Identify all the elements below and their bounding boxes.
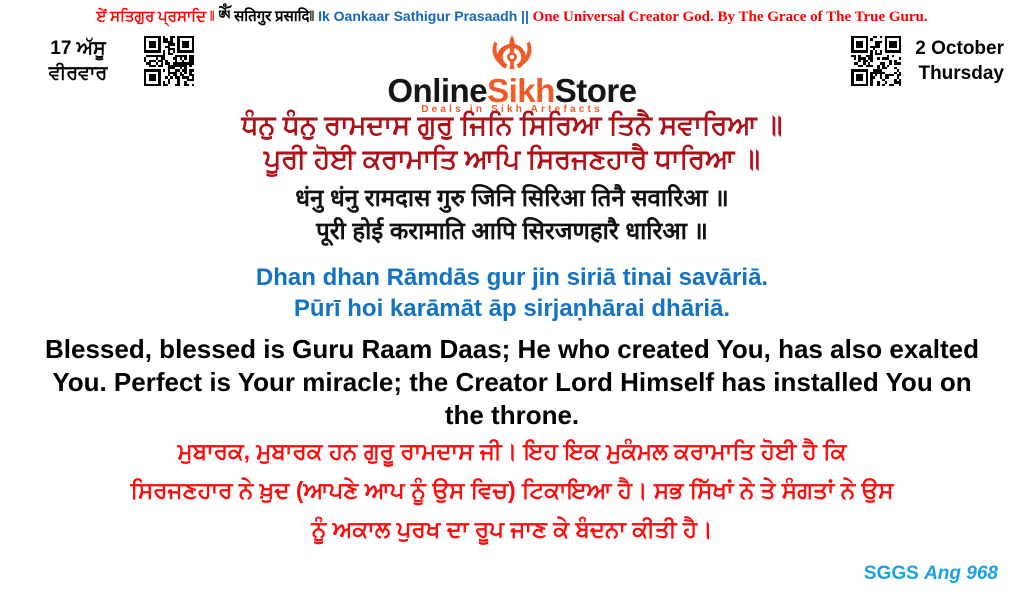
- site-logo[interactable]: OnlineSikhStore Deals in Sikh Artefacts: [367, 34, 657, 115]
- devanagari-verse-line1: धंनु धंनु रामदास गुरु जिनि सिरिआ तिनै सव…: [0, 182, 1024, 215]
- transliteration: Dhan dhan Rāmdās gur jin siriā tinai sav…: [0, 262, 1024, 324]
- mool-mantar-english: One Universal Creator God. By The Grace …: [533, 9, 928, 25]
- gregorian-date-line1: 2 October: [915, 36, 1004, 61]
- gurmukhi-verse: ਧੰਨੁ ਧੰਨੁ ਰਾਮਦਾਸ ਗੁਰੁ ਜਿਨਿ ਸਿਰਿਆ ਤਿਨੈ ਸਵ…: [0, 108, 1024, 176]
- nanakshahi-date-text: 17 ਅੱਸੂ ਵੀਰਵਾਰ: [24, 36, 132, 86]
- nanakshahi-date-block: 17 ਅੱਸੂ ਵੀਰਵਾਰ: [24, 36, 224, 86]
- qr-code-right[interactable]: [851, 36, 901, 86]
- punjabi-explanation: ਮੁਬਾਰਕ, ਮੁਬਾਰਕ ਹਨ ਗੁਰੂ ਰਾਮਦਾਸ ਜੀ। ਇਹ ਇਕ …: [0, 432, 1024, 549]
- mool-mantar-transliteration: Ik Oankaar Sathigur Prasaadh: [318, 8, 517, 24]
- transliteration-line1: Dhan dhan Rāmdās gur jin siriā tinai sav…: [0, 262, 1024, 293]
- devanagari-verse-line2: पूरी होई करामाति आपि सिरजणहारै धारिआ ॥: [0, 215, 1024, 248]
- header-row: 17 ਅੱਸੂ ਵੀਰਵਾਰ OnlineSikhStore Deals in …: [0, 34, 1024, 106]
- devanagari-verse: धंनु धंनु रामदास गुरु जिनि सिरिआ तिनै सव…: [0, 182, 1024, 248]
- reference-ang: Ang 968: [924, 563, 998, 584]
- nanakshahi-date-line2: ਵੀਰਵਾਰ: [24, 61, 132, 86]
- nanakshahi-date-line1: 17 ਅੱਸੂ: [24, 36, 132, 61]
- punjabi-explanation-line2: ਸਿਰਜਣਹਾਰ ਨੇ ਖ਼ੁਦ (ਆਪਣੇ ਆਪ ਨੂੰ ਉਸ ਵਿਚ) ਟਿ…: [16, 471, 1008, 510]
- gurmukhi-verse-line2: ਪੂਰੀ ਹੋਈ ਕਰਾਮਾਤਿ ਆਪਿ ਸਿਰਜਣਹਾਰੈ ਧਾਰਿਆ ॥: [0, 142, 1024, 176]
- logo-wordmark: OnlineSikhStore: [367, 74, 657, 108]
- qr-code-left[interactable]: [144, 36, 194, 86]
- gregorian-date-text: 2 October Thursday: [915, 36, 1004, 86]
- logo-letter-o: O: [387, 74, 412, 108]
- transliteration-line2: Pūrī hoi karāmāt āp sirjaṇhārai dhāriā.: [0, 293, 1024, 324]
- scripture-reference: SGGS Ang 968: [864, 563, 998, 585]
- punjabi-explanation-line1: ਮੁਬਾਰਕ, ਮੁਬਾਰਕ ਹਨ ਗੁਰੂ ਰਾਮਦਾਸ ਜੀ। ਇਹ ਇਕ …: [16, 432, 1008, 471]
- mool-mantar-divider: ||: [521, 8, 529, 24]
- mool-mantar-header: ਏਂ ਸਤਿਗੁਰ ਪ੍ਰਸਾਦਿ ‖ ༀ सतिगुर प्रसादि‖ Ik…: [0, 6, 1024, 27]
- gregorian-date-line2: Thursday: [915, 61, 1004, 86]
- mool-mantar-devanagari: ༀ सतिगुर प्रसादि‖: [218, 9, 314, 25]
- gregorian-date-block: 2 October Thursday: [851, 36, 1004, 86]
- punjabi-explanation-line3: ਨੂੰ ਅਕਾਲ ਪੁਰਖ ਦਾ ਰੂਪ ਜਾਣ ਕੇ ਬੰਦਨਾ ਕੀਤੀ ਹ…: [16, 510, 1008, 549]
- mool-mantar-gurmukhi: ਏਂ ਸਤਿਗੁਰ ਪ੍ਰਸਾਦਿ: [96, 9, 206, 25]
- gurmukhi-verse-line1: ਧੰਨੁ ਧੰਨੁ ਰਾਮਦਾਸ ਗੁਰੁ ਜਿਨਿ ਸਿਰਿਆ ਤਿਨੈ ਸਵ…: [0, 108, 1024, 142]
- mool-mantar-separator-1: ‖: [210, 9, 215, 25]
- reference-source: SGGS: [864, 563, 919, 584]
- english-translation: Blessed, blessed is Guru Raam Daas; He w…: [0, 333, 1024, 432]
